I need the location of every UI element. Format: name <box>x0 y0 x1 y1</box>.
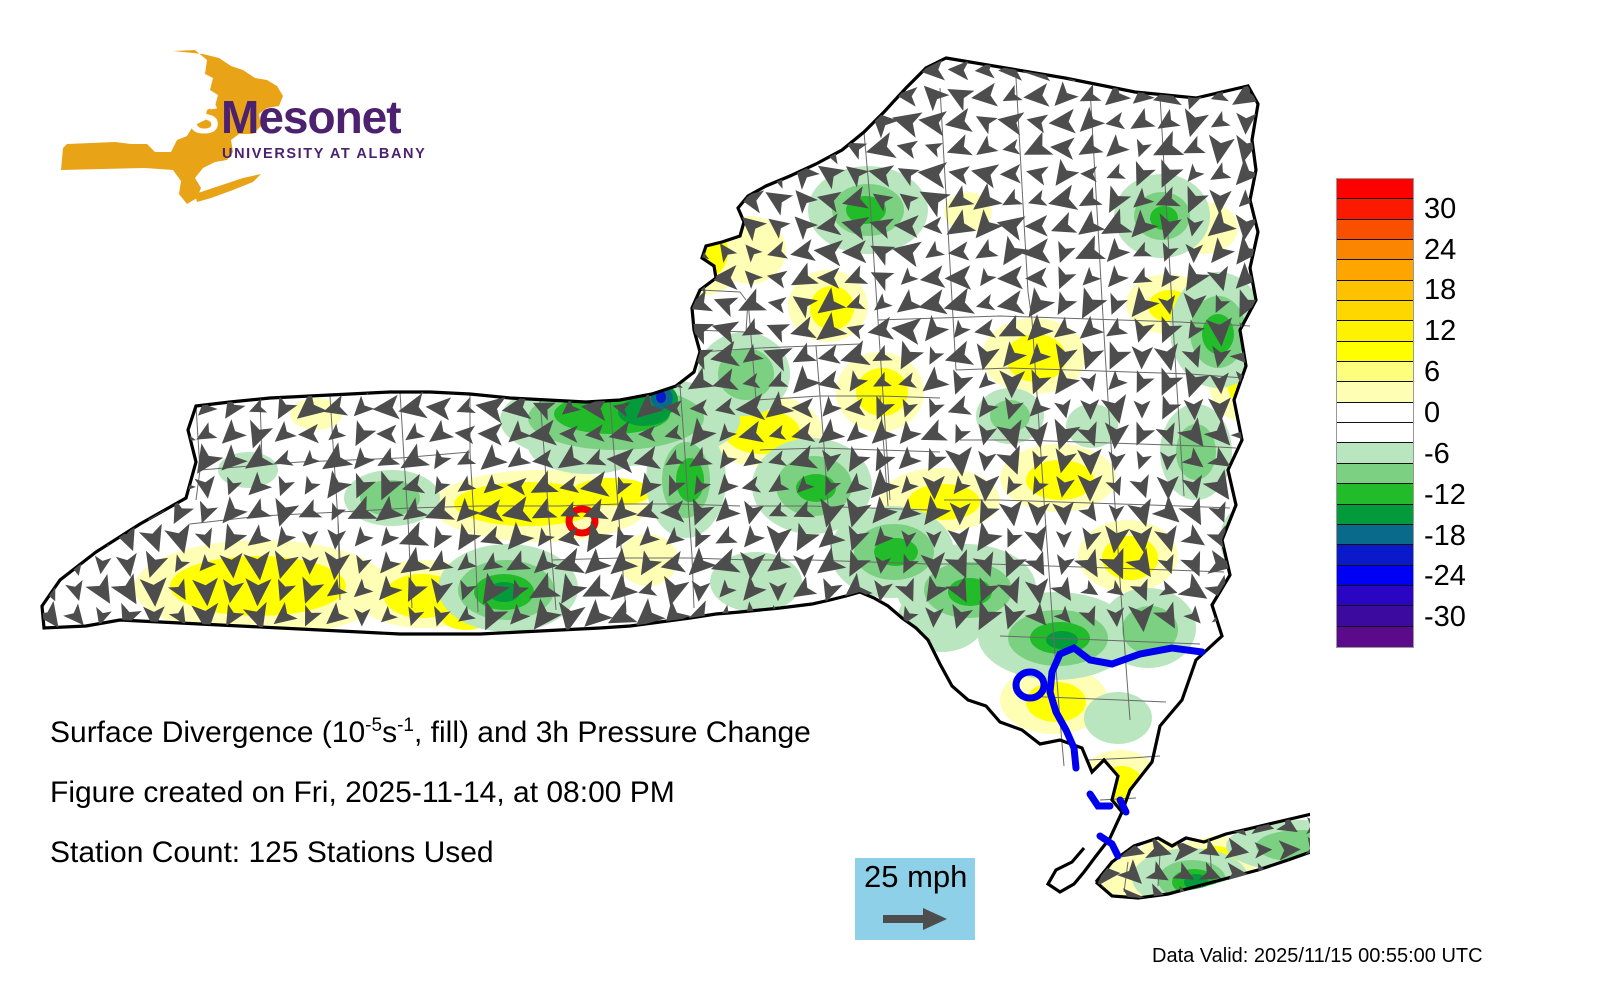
wind-arrow-icon <box>555 269 585 294</box>
wind-arrow-icon <box>42 265 64 291</box>
wind-arrow-icon <box>63 603 83 625</box>
wind-arrow-icon <box>687 324 714 345</box>
wind-arrow-icon <box>613 88 636 110</box>
wind-arrow-icon <box>511 167 529 185</box>
wind-arrow-icon <box>661 243 686 264</box>
wind-arrow-icon <box>1235 605 1254 623</box>
wind-arrow-icon <box>142 423 162 447</box>
wind-arrow-icon <box>296 287 327 313</box>
wind-arrow-icon <box>1210 162 1231 180</box>
wind-arrow-icon <box>250 167 268 185</box>
wind-arrow-icon <box>532 114 559 138</box>
wind-arrow-icon <box>1130 108 1155 129</box>
wind-arrow-icon <box>1106 53 1133 84</box>
wind-arrow-icon <box>1183 136 1206 154</box>
wind-arrow-icon <box>43 422 63 444</box>
wind-arrow-icon <box>1153 131 1184 155</box>
wind-arrow-icon <box>562 193 581 211</box>
wind-arrow-icon <box>735 84 765 111</box>
wind-arrow-icon <box>248 341 273 366</box>
wind-arrow-icon <box>584 116 609 135</box>
wind-arrow-icon <box>742 117 761 132</box>
wind-arrow-icon <box>997 112 1024 135</box>
wind-arrow-icon <box>220 113 242 132</box>
wind-arrow-icon <box>349 111 379 139</box>
colorbar-tick-label: -18 <box>1424 522 1466 551</box>
wind-arrow-icon <box>268 238 297 264</box>
wind-arrow-icon <box>1058 291 1078 315</box>
wind-arrow-icon <box>305 476 321 495</box>
wind-arrow-icon <box>738 288 767 310</box>
wind-arrow-icon <box>354 396 375 417</box>
colorbar-tick-label: 0 <box>1424 399 1440 428</box>
wind-arrow-icon <box>720 164 739 187</box>
wind-arrow-icon <box>350 167 376 188</box>
wind-arrow-icon <box>507 242 527 260</box>
wind-arrow-icon <box>216 268 246 293</box>
wind-arrow-icon <box>792 605 813 629</box>
wind-arrow-icon <box>221 90 246 110</box>
wind-arrow-icon <box>299 499 323 517</box>
wind-arrow-icon <box>851 604 869 627</box>
wind-arrow-icon <box>217 210 247 234</box>
wind-arrow-icon <box>299 87 318 105</box>
wind-arrow-icon <box>871 111 898 138</box>
wind-arrow-icon <box>1106 134 1130 157</box>
wind-arrow-icon <box>632 262 663 288</box>
wind-arrow-icon <box>947 134 973 155</box>
wind-arrow-icon <box>300 165 325 189</box>
wind-arrow-icon <box>86 135 113 160</box>
wind-arrow-icon <box>145 241 166 258</box>
wind-arrow-icon <box>121 318 141 340</box>
wind-arrow-icon <box>974 319 996 338</box>
wind-arrow-icon <box>427 296 456 321</box>
wind-arrow-icon <box>480 344 504 363</box>
wind-arrow-icon <box>1180 551 1200 577</box>
wind-arrow-icon <box>300 370 322 389</box>
wind-arrow-icon <box>191 85 217 108</box>
wind-arrow-icon <box>118 137 138 153</box>
wind-arrow-icon <box>976 135 998 155</box>
wind-arrow-icon <box>1276 885 1303 909</box>
wind-arrow-icon <box>431 216 455 240</box>
wind-arrow-icon <box>300 143 321 160</box>
wind-arrow-icon <box>221 163 242 181</box>
wind-arrow-icon <box>1157 59 1177 76</box>
wind-arrow-icon <box>219 288 248 313</box>
wind-arrow-icon <box>662 319 685 339</box>
wind-arrow-icon <box>35 162 62 187</box>
wind-arrow-icon <box>243 88 272 112</box>
wind-arrow-icon <box>611 193 633 211</box>
wind-arrow-icon <box>613 169 631 184</box>
wind-arrow-icon <box>217 241 243 265</box>
wind-arrow-icon <box>86 211 115 236</box>
wind-arrow-icon <box>556 322 587 348</box>
wind-arrow-icon <box>925 143 943 158</box>
wind-arrow-icon <box>376 112 404 139</box>
wind-arrow-icon <box>66 62 84 78</box>
wind-arrow-icon <box>584 167 608 187</box>
colorbar-band <box>1337 281 1413 301</box>
wind-arrow-icon <box>219 369 244 390</box>
colorbar-band <box>1337 566 1413 586</box>
wind-arrow-icon <box>377 195 400 213</box>
wind-arrow-icon <box>640 87 661 108</box>
wind-arrow-icon <box>642 112 658 130</box>
wind-arrow-icon <box>693 189 715 214</box>
wind-arrow-icon <box>381 527 399 547</box>
wind-arrow-icon <box>614 219 633 237</box>
wind-arrow-icon <box>819 88 840 106</box>
wind-arrow-icon <box>38 214 61 233</box>
wind-arrow-icon <box>138 316 166 342</box>
wind-arrow-icon <box>636 192 659 212</box>
wind-arrow-icon <box>64 139 85 158</box>
wind-arrow-icon <box>34 471 58 501</box>
wind-arrow-icon <box>323 291 349 312</box>
wind-arrow-icon <box>1070 816 1093 837</box>
wind-arrow-icon <box>1027 115 1049 134</box>
wind-arrow-icon <box>945 108 973 132</box>
wind-arrow-icon <box>1002 139 1020 155</box>
wind-arrow-icon <box>918 162 948 189</box>
wind-arrow-icon <box>765 192 793 216</box>
wind-arrow-icon <box>1236 235 1263 264</box>
wind-arrow-icon <box>40 313 67 344</box>
wind-arrow-icon <box>38 500 58 521</box>
wind-arrow-icon <box>169 220 193 238</box>
wind-arrow-icon <box>326 141 345 157</box>
wind-arrow-icon <box>739 141 765 162</box>
wind-arrow-icon <box>1198 813 1222 832</box>
wind-arrow-icon <box>93 400 109 418</box>
wind-arrow-icon <box>355 420 376 446</box>
wind-arrow-icon <box>198 190 216 205</box>
wind-arrow-icon <box>585 325 608 343</box>
wind-arrow-icon <box>1304 863 1310 885</box>
wind-arrow-icon <box>897 141 918 159</box>
wind-arrow-icon <box>327 168 347 186</box>
wind-arrow-icon <box>377 245 397 262</box>
wind-arrow-icon <box>690 216 715 241</box>
wind-arrow-icon <box>535 81 560 110</box>
wind-arrow-icon <box>1083 343 1105 370</box>
wind-arrow-icon <box>402 113 429 137</box>
wind-arrow-icon <box>68 503 86 523</box>
wind-arrow-icon <box>169 319 190 337</box>
wind-arrow-icon <box>1079 187 1103 206</box>
wind-arrow-icon <box>1078 210 1105 234</box>
wind-arrow-icon <box>1000 164 1021 184</box>
wind-arrow-icon <box>1054 81 1078 106</box>
wind-arrow-icon <box>120 342 143 370</box>
wind-arrow-icon <box>481 444 508 470</box>
wind-arrow-icon <box>43 394 64 419</box>
wind-arrow-icon <box>580 366 611 393</box>
wind-arrow-icon <box>1051 212 1077 233</box>
wind-arrow-icon <box>399 240 425 264</box>
wind-arrow-icon <box>379 218 401 239</box>
wind-arrow-icon <box>529 243 559 267</box>
wind-arrow-icon <box>353 294 371 308</box>
wind-arrow-icon <box>1080 373 1096 392</box>
wind-arrow-icon <box>1077 56 1104 77</box>
wind-arrow-icon <box>976 116 998 134</box>
wind-arrow-icon <box>534 345 555 362</box>
wind-arrow-icon <box>279 476 295 497</box>
wind-arrow-icon <box>978 451 996 472</box>
wind-arrow-icon <box>482 90 501 106</box>
wind-arrow-icon <box>373 395 400 420</box>
wind-arrow-icon <box>611 318 634 336</box>
wind-arrow-icon <box>194 135 218 154</box>
wind-arrow-icon <box>1233 498 1260 520</box>
wind-arrow-icon <box>41 61 59 76</box>
wind-arrow-icon <box>820 64 839 80</box>
wind-arrow-icon <box>1133 267 1153 283</box>
caption-line-station-count: Station Count: 125 Stations Used <box>50 838 950 868</box>
wind-arrow-icon <box>689 547 717 575</box>
wind-arrow-icon <box>999 500 1022 526</box>
wind-arrow-icon <box>347 314 377 338</box>
wind-arrow-icon <box>953 369 973 394</box>
wind-arrow-icon <box>298 214 321 234</box>
wind-arrow-icon <box>147 396 167 420</box>
wind-arrow-icon <box>458 324 476 341</box>
wind-arrow-icon <box>122 448 140 470</box>
wind-arrow-icon <box>1082 287 1108 319</box>
wind-arrow-icon <box>60 82 88 108</box>
wind-arrow-icon <box>115 288 144 311</box>
wind-arrow-icon <box>793 365 821 393</box>
wind-arrow-icon <box>193 342 219 362</box>
wind-arrow-icon <box>718 56 743 87</box>
wind-arrow-icon <box>1058 241 1076 263</box>
wind-arrow-icon <box>273 344 295 363</box>
wind-arrow-icon <box>114 267 138 289</box>
wind-arrow-icon <box>560 294 584 318</box>
wind-arrow-icon <box>322 373 347 395</box>
wind-speed-legend-label: 25 mph <box>864 860 967 894</box>
wind-arrow-icon <box>505 269 534 295</box>
wind-arrow-icon <box>508 447 532 468</box>
colorbar-band <box>1337 220 1413 240</box>
colorbar-band <box>1337 240 1413 260</box>
wind-arrow-icon <box>398 317 426 343</box>
wind-arrow-icon <box>1232 79 1263 105</box>
wind-arrow-icon <box>1024 525 1046 552</box>
wind-arrow-icon <box>276 193 295 211</box>
wind-arrow-icon <box>194 167 220 188</box>
wind-arrow-icon <box>139 524 162 553</box>
wind-arrow-icon <box>665 117 684 132</box>
wind-arrow-icon <box>536 58 559 85</box>
wind-arrow-icon <box>1223 885 1247 906</box>
wind-arrow-icon <box>997 290 1025 314</box>
wind-arrow-icon <box>91 475 115 500</box>
wind-arrow-icon <box>63 366 91 390</box>
colorbar-tick-label: -12 <box>1424 481 1466 510</box>
wind-arrow-icon <box>455 296 475 314</box>
wind-arrow-icon <box>664 272 684 289</box>
wind-arrow-icon <box>95 315 118 345</box>
wind-arrow-icon <box>278 140 294 158</box>
wind-arrow-icon <box>484 167 503 185</box>
wind-arrow-icon <box>1075 235 1106 259</box>
wind-arrow-icon <box>248 114 271 136</box>
wind-arrow-icon <box>790 239 816 261</box>
wind-arrow-icon <box>91 82 116 105</box>
wind-arrow-icon <box>482 373 500 390</box>
wind-arrow-icon <box>428 90 453 109</box>
wind-arrow-icon <box>925 315 949 341</box>
wind-arrow-icon <box>715 526 737 544</box>
wind-arrow-icon <box>351 192 371 210</box>
wind-arrow-icon <box>503 140 533 164</box>
wind-arrow-icon <box>955 424 971 444</box>
wind-arrow-icon <box>1236 135 1260 163</box>
wind-arrow-icon <box>406 193 425 211</box>
wind-arrow-icon <box>871 272 895 291</box>
wind-arrow-icon <box>535 216 559 240</box>
wind-arrow-icon <box>111 573 137 604</box>
wind-arrow-icon <box>485 212 507 241</box>
wind-arrow-icon <box>120 423 139 441</box>
wind-arrow-icon <box>326 246 347 263</box>
wind-arrow-icon <box>664 576 689 606</box>
wind-arrow-icon <box>873 607 892 627</box>
colorbar-band <box>1337 362 1413 382</box>
wind-arrow-icon <box>143 165 162 183</box>
wind-arrow-icon <box>296 320 321 342</box>
wind-arrow-icon <box>948 395 972 415</box>
wind-arrow-icon <box>40 112 59 128</box>
wind-arrow-icon <box>1058 266 1076 289</box>
wind-arrow-icon <box>455 243 481 267</box>
wind-arrow-icon <box>510 59 527 79</box>
wind-arrow-icon <box>721 111 740 135</box>
wind-arrow-icon <box>503 114 533 138</box>
wind-arrow-icon <box>167 368 194 389</box>
colorbar-band <box>1337 627 1413 647</box>
wind-arrow-icon <box>485 111 503 133</box>
wind-arrow-icon <box>67 267 86 283</box>
wind-arrow-icon <box>664 59 689 86</box>
wind-arrow-icon <box>325 348 345 366</box>
wind-arrow-icon <box>538 192 555 210</box>
wind-arrow-icon <box>222 419 247 444</box>
wind-arrow-icon <box>121 603 142 629</box>
wind-arrow-icon <box>1050 138 1075 160</box>
wind-arrow-icon <box>637 318 660 336</box>
wind-arrow-icon <box>247 498 272 519</box>
wind-arrow-icon <box>321 319 348 343</box>
wind-arrow-icon <box>165 63 195 87</box>
wind-arrow-icon <box>121 367 144 396</box>
wind-arrow-icon <box>276 168 296 186</box>
wind-arrow-icon <box>70 215 87 234</box>
wind-arrow-icon <box>920 265 946 288</box>
wind-arrow-icon <box>1207 550 1235 574</box>
wind-arrow-icon <box>89 287 119 314</box>
wind-arrow-icon <box>478 296 508 321</box>
wind-arrow-icon <box>1071 888 1091 906</box>
wind-arrow-icon <box>503 317 529 341</box>
wind-arrow-icon <box>818 344 841 363</box>
wind-arrow-icon <box>1211 111 1231 128</box>
wind-arrow-icon <box>1303 886 1310 907</box>
wind-arrow-icon <box>271 317 297 338</box>
wind-arrow-icon <box>405 423 425 441</box>
wind-arrow-icon <box>1209 135 1235 165</box>
wind-arrow-icon <box>506 297 529 316</box>
wind-arrow-icon <box>40 342 65 371</box>
wind-arrow-icon <box>92 193 109 208</box>
wind-arrow-icon <box>634 245 663 268</box>
wind-arrow-icon <box>891 318 921 345</box>
wind-arrow-icon <box>426 397 452 420</box>
wind-arrow-icon <box>434 449 451 469</box>
wind-arrow-icon <box>609 297 637 319</box>
wind-arrow-icon <box>35 601 59 628</box>
wind-arrow-icon <box>768 297 787 313</box>
wind-arrow-icon <box>192 295 218 317</box>
wind-arrow-icon <box>429 420 454 442</box>
wind-arrow-icon <box>222 61 241 77</box>
wind-arrow-icon <box>590 244 607 263</box>
wind-arrow-icon <box>70 425 86 444</box>
wind-arrow-icon <box>269 287 300 312</box>
wind-arrow-icon <box>531 270 556 291</box>
wind-arrow-icon <box>714 298 739 318</box>
wind-arrow-icon <box>529 290 557 314</box>
wind-arrow-icon <box>477 265 504 289</box>
wind-arrow-icon <box>765 113 789 134</box>
wind-arrow-icon <box>612 138 637 163</box>
wind-arrow-icon <box>89 448 109 473</box>
wind-arrow-icon <box>738 165 765 187</box>
wind-arrow-icon <box>117 502 137 525</box>
wind-arrow-icon <box>300 247 319 263</box>
wind-arrow-icon <box>274 450 294 466</box>
wind-arrow-icon <box>948 61 970 81</box>
wind-arrow-icon <box>1213 56 1235 84</box>
wind-arrow-icon <box>1048 185 1078 210</box>
wind-arrow-icon <box>271 86 302 114</box>
wind-arrow-icon <box>305 61 320 80</box>
wind-arrow-icon <box>354 141 373 160</box>
wind-arrow-icon <box>92 367 117 392</box>
wind-arrow-icon <box>606 366 636 391</box>
wind-arrow-icon <box>221 138 249 165</box>
wind-arrow-icon <box>925 241 945 258</box>
wind-arrow-icon <box>268 214 295 239</box>
wind-arrow-icon <box>140 134 166 156</box>
wind-arrow-icon <box>322 442 353 469</box>
colorbar-tick-label: 18 <box>1424 276 1456 305</box>
wind-arrow-icon <box>585 548 612 574</box>
wind-arrow-icon <box>221 189 243 207</box>
wind-arrow-icon <box>149 450 165 470</box>
wind-arrow-icon <box>1159 580 1178 595</box>
wind-arrow-icon <box>870 62 892 81</box>
wind-arrow-icon <box>195 241 215 258</box>
wind-speed-legend: 25 mph <box>855 858 975 940</box>
wind-arrow-icon <box>93 347 112 368</box>
wind-arrow-icon <box>1128 59 1152 81</box>
